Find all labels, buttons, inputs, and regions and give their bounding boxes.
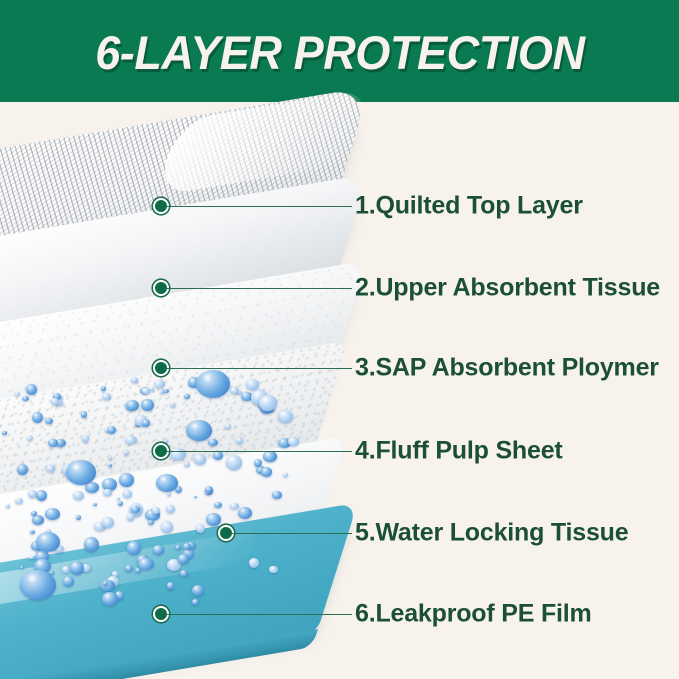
- water-droplet-large: [66, 460, 96, 485]
- water-droplet: [109, 456, 112, 459]
- water-droplet: [102, 393, 111, 400]
- water-droplet: [76, 515, 81, 520]
- water-droplet: [46, 465, 54, 472]
- water-droplet: [102, 517, 114, 528]
- water-droplet: [192, 585, 204, 596]
- water-droplet: [249, 558, 259, 568]
- water-droplet: [278, 410, 294, 423]
- water-droplet: [124, 450, 129, 454]
- water-droplet: [259, 395, 277, 411]
- water-droplet: [48, 439, 58, 447]
- water-droplet: [142, 419, 150, 427]
- water-droplet: [26, 384, 37, 395]
- water-droplet: [127, 513, 135, 520]
- water-droplet: [236, 437, 243, 444]
- water-droplet: [84, 537, 99, 552]
- water-droplet: [170, 403, 175, 407]
- water-droplet: [15, 498, 23, 504]
- water-droplet-large: [196, 370, 230, 398]
- water-droplet: [45, 418, 53, 424]
- water-droplet: [32, 515, 44, 525]
- water-droplet: [288, 437, 300, 446]
- water-droplet: [153, 545, 165, 555]
- water-droplet: [183, 543, 191, 551]
- water-droplet: [70, 561, 84, 575]
- water-droplet: [126, 400, 139, 411]
- callout-label-2: 2.Upper Absorbent Tissue: [355, 274, 660, 303]
- water-droplet: [15, 392, 20, 396]
- water-droplet: [254, 459, 262, 467]
- water-droplet: [51, 398, 59, 405]
- water-droplet-large: [20, 570, 56, 600]
- water-droplet: [125, 565, 133, 572]
- infographic-page: 6-LAYER PROTECTION: [0, 0, 679, 679]
- water-droplet: [161, 521, 173, 533]
- callout-leader-line-3: [167, 368, 352, 369]
- water-droplet: [152, 507, 160, 515]
- water-droplet: [6, 504, 10, 508]
- water-droplet: [30, 530, 35, 534]
- water-droplet: [103, 489, 112, 497]
- water-droplet: [31, 511, 37, 516]
- water-droplet-large: [36, 532, 60, 552]
- callout-leader-line-1: [167, 206, 352, 207]
- water-droplet: [283, 473, 288, 477]
- water-droplet: [230, 387, 238, 394]
- water-droplet: [230, 503, 238, 509]
- water-droplet: [36, 490, 47, 501]
- water-droplet: [125, 436, 136, 444]
- water-droplet: [27, 436, 33, 440]
- water-droplet: [123, 490, 133, 497]
- callout-label-1: 1.Quilted Top Layer: [355, 192, 583, 221]
- header-band: 6-LAYER PROTECTION: [0, 0, 679, 102]
- callout-leader-line-2: [167, 288, 352, 289]
- water-droplet: [103, 581, 108, 585]
- layer-stack-illustration: [0, 102, 679, 679]
- water-droplet: [196, 524, 205, 532]
- water-droplet: [119, 473, 134, 486]
- water-droplet: [62, 566, 70, 573]
- water-droplet: [194, 454, 207, 465]
- callout-leader-line-5: [232, 533, 352, 534]
- water-droplet: [166, 505, 174, 513]
- callout-label-5: 5.Water Locking Tissue: [355, 519, 628, 548]
- water-droplet: [22, 396, 28, 401]
- water-droplet: [178, 554, 189, 563]
- callout-leader-line-4: [167, 451, 352, 452]
- water-droplet: [263, 451, 276, 462]
- water-droplet: [225, 424, 231, 429]
- callout-label-6: 6.Leakproof PE Film: [355, 600, 592, 629]
- water-droplet: [272, 491, 282, 499]
- callout-label-4: 4.Fluff Pulp Sheet: [355, 437, 563, 466]
- water-droplet: [167, 582, 174, 589]
- water-droplet: [102, 592, 119, 606]
- callout-leader-line-6: [167, 614, 352, 615]
- water-droplet: [213, 451, 223, 459]
- water-droplet: [167, 493, 170, 496]
- water-droplet: [118, 501, 123, 506]
- page-title: 6-LAYER PROTECTION: [95, 25, 584, 80]
- water-droplet: [163, 389, 169, 393]
- water-droplet: [82, 435, 89, 442]
- water-droplet: [192, 599, 198, 605]
- callout-label-3: 3.SAP Absorbent Ploymer: [355, 354, 659, 383]
- water-droplet: [20, 566, 24, 569]
- water-droplet: [208, 439, 218, 446]
- water-droplet: [135, 568, 141, 573]
- water-droplet: [269, 566, 277, 574]
- water-droplet: [131, 377, 138, 382]
- water-droplet-large: [156, 474, 178, 492]
